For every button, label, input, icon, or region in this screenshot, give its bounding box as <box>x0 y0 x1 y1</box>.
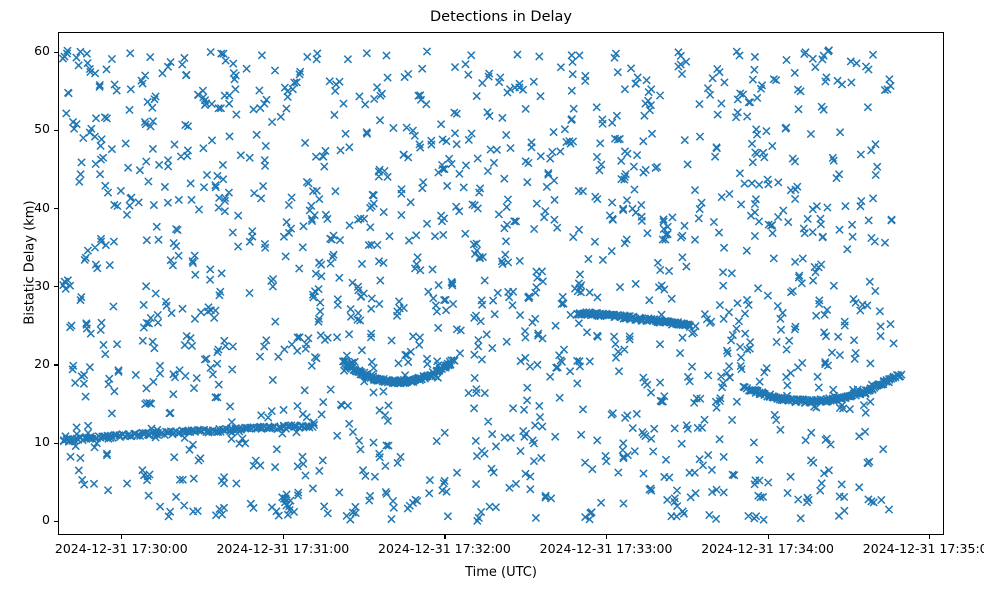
x-tick-mark <box>929 535 930 539</box>
x-tick-label: 2024-12-31 17:34:00 <box>701 542 834 555</box>
matplotlib-figure: Detections in Delay Bistatic Delay (km) … <box>0 0 984 590</box>
x-tick-label: 2024-12-31 17:31:00 <box>216 542 349 555</box>
y-tick-label: 40 <box>0 202 50 215</box>
x-tick-mark <box>444 535 445 539</box>
x-tick-label: 2024-12-31 17:32:00 <box>378 542 511 555</box>
plot-area <box>58 32 944 535</box>
x-tick-mark <box>283 535 284 539</box>
x-tick-label: 2024-12-31 17:35:00 <box>863 542 984 555</box>
x-tick-mark <box>606 535 607 539</box>
y-tick-label: 10 <box>0 436 50 449</box>
y-tick-label: 50 <box>0 123 50 136</box>
x-axis-label: Time (UTC) <box>58 565 944 580</box>
x-tick-mark <box>121 535 122 539</box>
y-tick-label: 60 <box>0 45 50 58</box>
x-tick-label: 2024-12-31 17:30:00 <box>55 542 188 555</box>
x-tick-mark <box>768 535 769 539</box>
y-tick-label: 0 <box>0 514 50 527</box>
scatter-markers <box>59 33 944 535</box>
chart-title: Detections in Delay <box>58 8 944 26</box>
x-tick-label: 2024-12-31 17:33:00 <box>540 542 673 555</box>
y-tick-label: 20 <box>0 358 50 371</box>
scatter-series-detections <box>59 47 905 525</box>
y-tick-label: 30 <box>0 280 50 293</box>
